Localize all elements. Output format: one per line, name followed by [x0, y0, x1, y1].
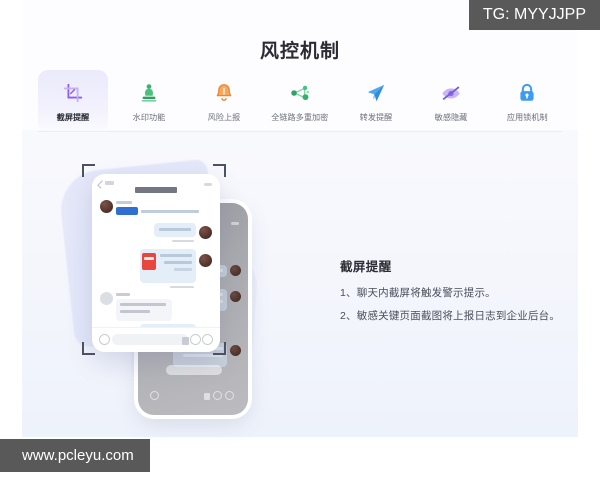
alarm-bell-icon [213, 80, 235, 106]
crop-bracket-bottom-right [213, 342, 226, 355]
crop-bracket-top-right [213, 164, 226, 177]
tab-label: 全链路多重加密 [271, 113, 328, 121]
detail-panel: 截屏提醒 1、聊天内截屏将触发警示提示。 2、敏感关键页面截图将上报日志到企业后… [340, 256, 570, 333]
page-title: 风控机制 [0, 36, 600, 63]
tab-label: 转发提醒 [359, 113, 392, 121]
feature-tabs: 截屏提醒 水印功能 [38, 70, 562, 132]
lock-icon [516, 80, 538, 106]
detail-list-item: 2、敏感关键页面截图将上报日志到企业后台。 [340, 311, 570, 322]
website-watermark: www.pcleyu.com [0, 439, 150, 472]
tab-forward-alert[interactable]: 转发提醒 [341, 70, 411, 132]
chat-title [92, 180, 220, 198]
tab-app-lock[interactable]: 应用锁机制 [492, 70, 562, 132]
crop-bracket-top-left [82, 164, 95, 177]
scissors-icon[interactable] [182, 337, 189, 345]
tab-full-link-encryption[interactable]: 全链路多重加密 [265, 70, 335, 132]
telegram-watermark: TG: MYYJJPP [469, 0, 600, 30]
back-system-notice [166, 365, 222, 375]
detail-heading: 截屏提醒 [340, 256, 570, 275]
stamp-icon [138, 80, 160, 106]
tab-watermark[interactable]: 水印功能 [114, 70, 184, 132]
add-icon[interactable] [202, 334, 213, 345]
tab-label: 应用锁机制 [507, 113, 548, 121]
eye-off-icon [440, 80, 462, 106]
back-more-icon [231, 222, 239, 225]
tab-sensitive-hide[interactable]: 敏感隐藏 [416, 70, 486, 132]
tab-label: 水印功能 [132, 113, 165, 121]
crop-bracket-bottom-left [82, 342, 95, 355]
phone-front-screenshot [92, 174, 220, 352]
tab-risk-report[interactable]: 风险上报 [189, 70, 259, 132]
page-root: 风控机制 截屏提醒 水印功能 [0, 0, 600, 480]
tab-label: 截屏提醒 [57, 113, 90, 121]
emoji-icon[interactable] [190, 334, 201, 345]
voice-icon[interactable] [99, 334, 110, 345]
chat-input-field[interactable] [112, 334, 188, 345]
tab-label: 风险上报 [208, 113, 241, 121]
tab-label: 敏感隐藏 [435, 113, 468, 121]
crop-screenshot-icon [62, 80, 84, 106]
detail-list-item: 1、聊天内截屏将触发警示提示。 [340, 288, 570, 299]
network-nodes-icon [289, 80, 311, 106]
detail-list: 1、聊天内截屏将触发警示提示。 2、敏感关键页面截图将上报日志到企业后台。 [340, 288, 570, 321]
more-options-icon[interactable] [204, 183, 212, 186]
chat-navbar [92, 174, 220, 194]
paper-plane-icon [365, 80, 387, 106]
screenshot-illustration [38, 150, 318, 425]
tabs-divider [38, 131, 562, 132]
tab-screenshot-alert[interactable]: 截屏提醒 [38, 70, 108, 132]
